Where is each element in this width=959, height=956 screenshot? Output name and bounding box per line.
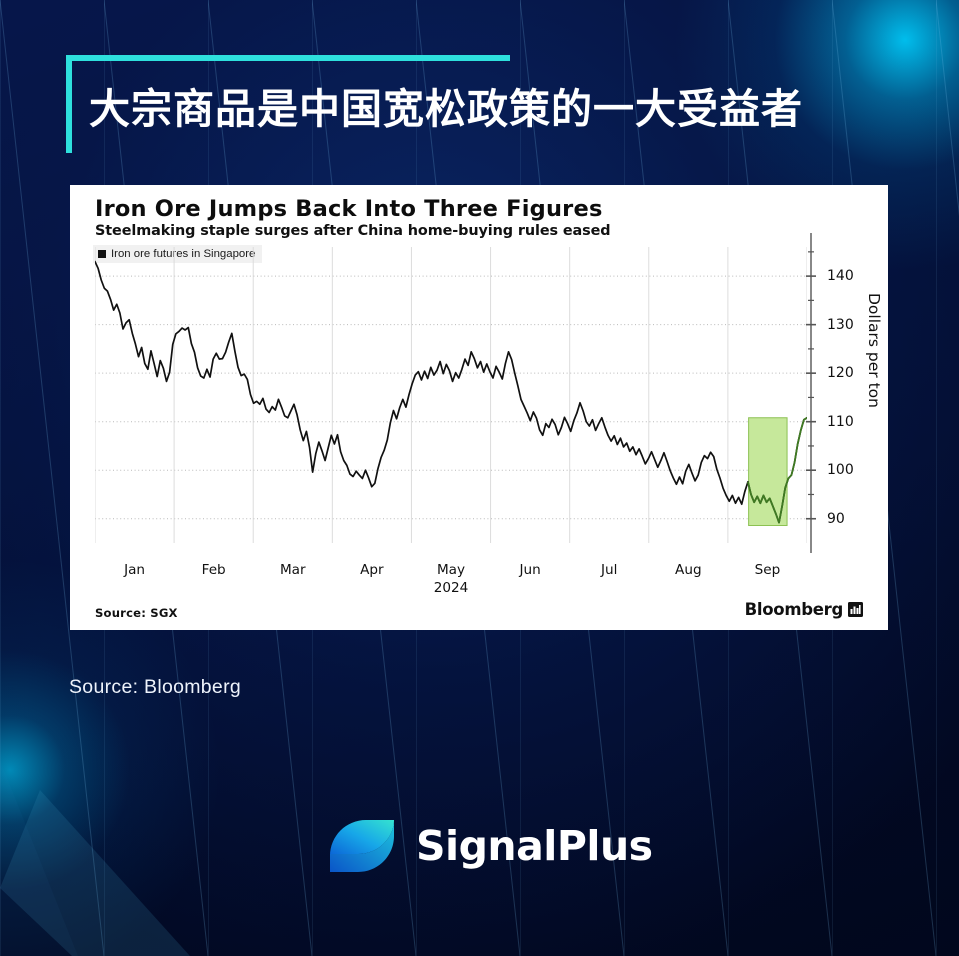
x-axis-year-label: 2024	[434, 580, 469, 596]
chart-panel: Iron Ore Jumps Back Into Three Figures S…	[70, 185, 888, 630]
y-axis-tick-label: 110	[827, 414, 854, 430]
y-axis-tick-label: 90	[827, 511, 845, 527]
x-axis-tick-label: Jan	[124, 562, 145, 578]
x-axis: JanFebMarAprMay2024JunJulAugSep	[95, 558, 807, 600]
chart-plot-area	[95, 247, 807, 543]
y-axis-tick-label: 100	[827, 462, 854, 478]
x-axis-tick-label: Jun	[519, 562, 540, 578]
price-line-chart	[95, 247, 807, 543]
brand-logo: SignalPlus	[322, 812, 653, 880]
page-title-text: 大宗商品是中国宽松政策的一大受益者	[89, 75, 803, 135]
x-axis-tick-label: Apr	[360, 562, 384, 578]
chart-subtitle: Steelmaking staple surges after China ho…	[95, 223, 610, 239]
x-axis-tick-label: Aug	[675, 562, 702, 578]
source-caption: Source: Bloomberg	[69, 676, 241, 699]
y-axis: 90100110120130140 Dollars per ton	[805, 233, 890, 553]
bloomberg-watermark: Bloomberg	[745, 600, 863, 619]
chart-title: Iron Ore Jumps Back Into Three Figures	[95, 196, 603, 222]
poster-canvas: 大宗商品是中国宽松政策的一大受益者 Iron Ore Jumps Back In…	[0, 0, 959, 956]
y-axis-tick-label: 130	[827, 317, 854, 333]
y-axis-tick-label: 140	[827, 268, 854, 284]
bloomberg-terminal-icon	[848, 602, 863, 617]
signalplus-wave-logo-icon	[322, 812, 402, 880]
x-axis-tick-label: Sep	[755, 562, 781, 578]
y-axis-tick-label: 120	[827, 365, 854, 381]
chart-source: Source: SGX	[95, 606, 178, 620]
x-axis-tick-label: Mar	[280, 562, 306, 578]
bloomberg-wordmark: Bloomberg	[745, 600, 843, 619]
x-axis-tick-label: Feb	[202, 562, 226, 578]
x-axis-tick-label: May2024	[434, 562, 469, 596]
x-axis-tick-label: Jul	[601, 562, 617, 578]
page-title: 大宗商品是中国宽松政策的一大受益者	[89, 62, 919, 148]
brand-wordmark: SignalPlus	[416, 822, 653, 870]
y-axis-label: Dollars per ton	[865, 293, 883, 408]
